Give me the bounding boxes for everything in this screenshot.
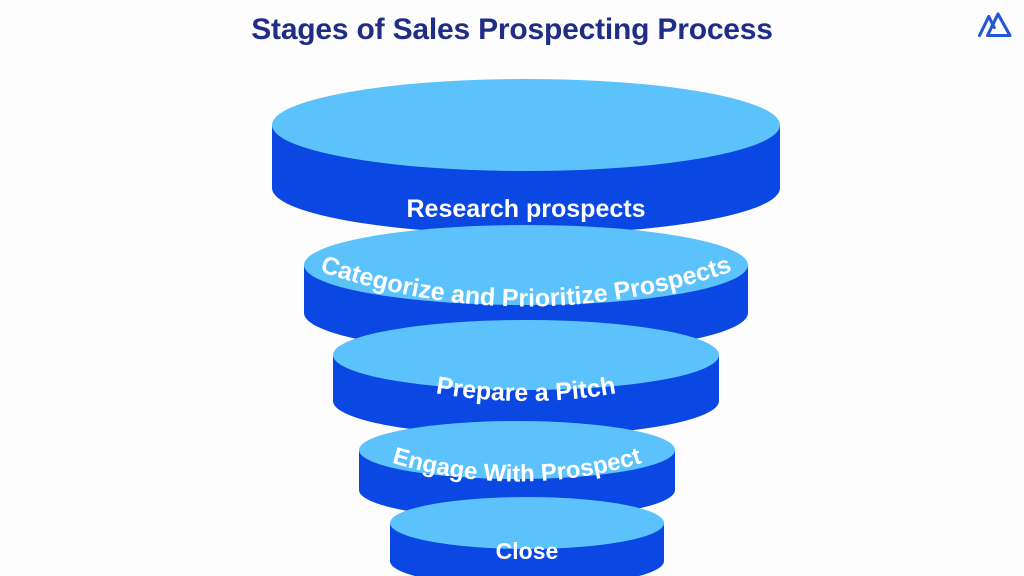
funnel-stage-1-top xyxy=(272,79,780,171)
funnel-stage-5-label: Close xyxy=(496,538,559,564)
funnel-stage-1-label: Research prospects xyxy=(406,195,645,223)
funnel-stage-1[interactable]: Research prospects xyxy=(272,79,780,234)
funnel-stage-5[interactable]: Close xyxy=(390,497,664,576)
funnel-chart: Research prospects Categorize and Priori… xyxy=(0,0,1024,576)
slide-canvas: Stages of Sales Prospecting Process Rese… xyxy=(0,0,1024,576)
funnel-stage-3[interactable]: Prepare a Pitch xyxy=(333,320,719,436)
